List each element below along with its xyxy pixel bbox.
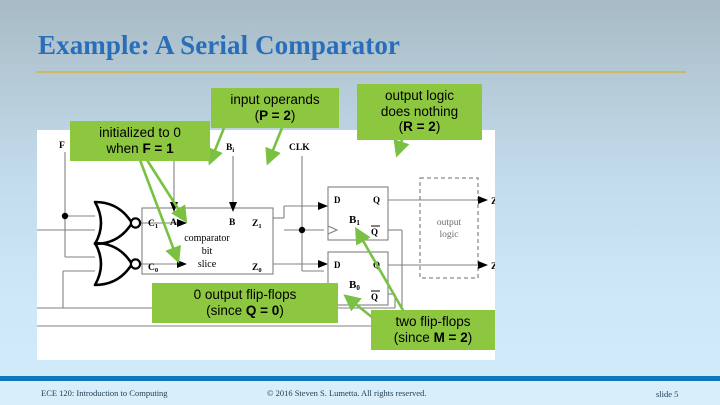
callout-input-line2: (P = 2) xyxy=(218,108,332,124)
footer-slide-number: slide 5 xyxy=(656,389,678,399)
label-clk: CLK xyxy=(289,143,310,153)
label-ff-top-name: B1 xyxy=(349,214,360,227)
label-cmp-a: A xyxy=(170,218,177,228)
label-b-i: Bi xyxy=(226,143,234,154)
label-output-logic-1: output xyxy=(437,218,462,228)
label-comparator-1: comparator xyxy=(184,233,230,244)
slide-canvas: Example: A Serial Comparator xyxy=(0,0,720,405)
callout-outlogic-line2: (R = 2) xyxy=(364,119,475,135)
label-out-z1: Z1 xyxy=(491,197,495,208)
label-ff-bot-name: B0 xyxy=(349,279,360,292)
footer-course: ECE 120: Introduction to Computing xyxy=(41,388,168,398)
junction-dot-f xyxy=(62,213,68,219)
junction-dot-clk xyxy=(299,227,305,233)
nor-gate-bottom xyxy=(95,243,140,285)
callout-zero-line2: (since Q = 0) xyxy=(159,303,331,319)
label-cmp-b: B xyxy=(229,218,236,228)
label-comparator-3: slice xyxy=(198,259,217,270)
label-z1-cmp: Z1 xyxy=(252,219,262,230)
label-out-z0: Z0 xyxy=(491,262,495,273)
callout-input-line1: input operands xyxy=(218,92,332,108)
callout-two-line2: (since M = 2) xyxy=(378,330,488,346)
callout-output-logic: output logic does nothing (R = 2) xyxy=(357,84,482,140)
footer-copyright: © 2016 Steven S. Lumetta. All rights res… xyxy=(267,388,426,398)
label-z0-cmp: Z0 xyxy=(252,263,262,274)
label-c0: C0 xyxy=(148,263,158,274)
page-title: Example: A Serial Comparator xyxy=(38,30,400,61)
label-ff-bot-qbar: Q xyxy=(371,292,378,302)
callout-two-line1: two flip-flops xyxy=(378,314,488,330)
callout-outlogic-line1: output logic xyxy=(364,88,475,104)
title-divider xyxy=(36,71,686,73)
label-comparator-2: bit xyxy=(202,246,213,257)
callout-two-flipflops: two flip-flops (since M = 2) xyxy=(371,310,495,350)
label-ff-top-q: Q xyxy=(373,195,380,205)
nor-gate-top xyxy=(95,202,140,244)
callout-initialized: initialized to 0 when F = 1 xyxy=(70,121,210,161)
label-ff-bot-q: Q xyxy=(373,260,380,270)
callout-input-operands: input operands (P = 2) xyxy=(211,88,339,128)
callout-outlogic-line1b: does nothing xyxy=(364,104,475,120)
callout-initialized-line2: when F = 1 xyxy=(77,141,203,157)
callout-zero-output-flipflops: 0 output flip-flops (since Q = 0) xyxy=(152,283,338,323)
output-logic-dashed-box xyxy=(420,178,478,278)
label-ff-top-qbar: Q xyxy=(371,227,378,237)
callout-initialized-line1: initialized to 0 xyxy=(77,125,203,141)
label-output-logic-2: logic xyxy=(440,230,459,240)
clock-triangle-top xyxy=(328,226,337,234)
callout-zero-line1: 0 output flip-flops xyxy=(159,287,331,303)
label-c1: C1 xyxy=(148,219,158,230)
label-f: F xyxy=(59,141,65,151)
label-ff-top-d: D xyxy=(334,195,341,205)
label-ff-bot-d: D xyxy=(334,260,341,270)
